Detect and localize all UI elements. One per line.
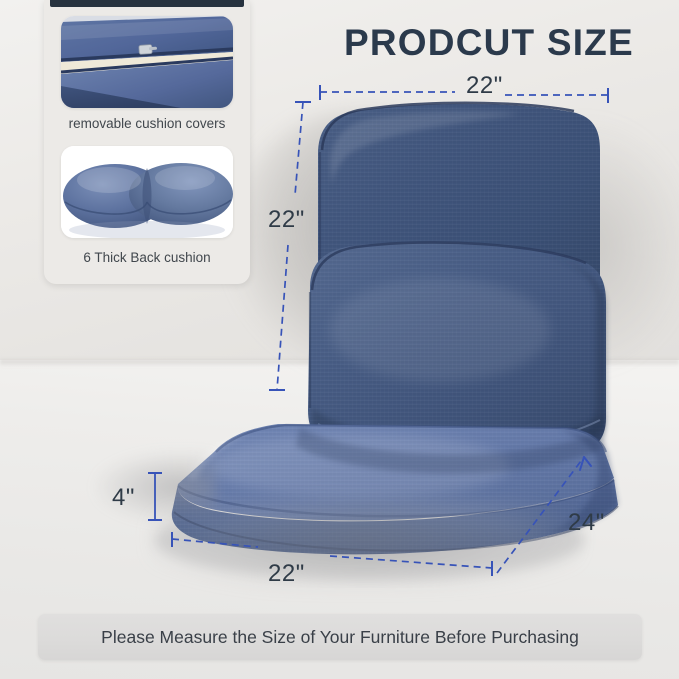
dimension-seat-thickness bbox=[148, 473, 162, 520]
thumbnail-back-cushion-closeup[interactable] bbox=[61, 146, 233, 238]
panel-top-bar bbox=[50, 0, 244, 7]
dimension-label-back-width: 22" bbox=[466, 72, 503, 100]
thumbnail-caption-back-cushion: 6 Thick Back cushion bbox=[44, 250, 250, 265]
dimension-label-seat-depth: 24" bbox=[568, 509, 605, 537]
measure-notice-text: Please Measure the Size of Your Furnitur… bbox=[38, 614, 642, 660]
dimension-seat-width bbox=[172, 532, 492, 576]
dimension-back-height bbox=[269, 102, 311, 390]
thumbnail-caption-zipper: removable cushion covers bbox=[44, 116, 250, 131]
thumbnail-zipper-closeup[interactable] bbox=[61, 16, 233, 108]
dimension-label-seat-thickness: 4" bbox=[112, 484, 135, 512]
dimension-label-back-height: 22" bbox=[268, 206, 305, 234]
dimension-back-width bbox=[320, 85, 608, 103]
product-size-infographic: PRODCUT SIZE bbox=[0, 0, 679, 679]
dimension-label-seat-width: 22" bbox=[268, 560, 305, 588]
measure-notice-banner: Please Measure the Size of Your Furnitur… bbox=[38, 614, 642, 660]
feature-panel: removable cushion covers bbox=[44, 0, 250, 284]
